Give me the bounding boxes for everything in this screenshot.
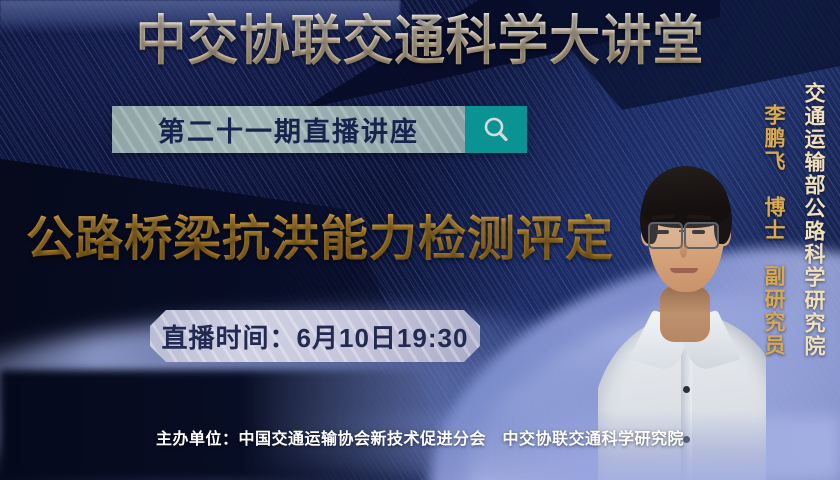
page-title: 中交协联交通科学大讲堂 xyxy=(25,13,815,70)
search-icon[interactable] xyxy=(465,106,527,153)
portrait-mouth xyxy=(670,268,698,273)
portrait-glasses-right-lens xyxy=(684,222,719,249)
episode-bar: 第二十一期直播讲座 xyxy=(112,106,527,153)
speaker-organization: 交通运输部公路科学研究院 xyxy=(798,82,828,358)
episode-bar-text-area: 第二十一期直播讲座 xyxy=(112,106,465,153)
live-time-label: 直播时间：6月10日19:30 xyxy=(162,318,469,355)
live-time-badge: 直播时间：6月10日19:30 xyxy=(150,310,480,362)
episode-label: 第二十一期直播讲座 xyxy=(158,110,419,149)
portrait-glasses-left-lens xyxy=(648,222,683,249)
portrait-glasses-bridge xyxy=(679,230,684,232)
portrait-shirt-button xyxy=(683,386,690,393)
portrait-nose xyxy=(680,242,687,258)
speaker-name-title: 李鹏飞 博士 副研究员 xyxy=(758,104,788,357)
live-lecture-poster: 中交协联交通科学大讲堂 第二十一期直播讲座 公路桥梁抗洪能力检测评定 直播时间：… xyxy=(0,0,840,480)
lecture-headline: 公路桥梁抗洪能力检测评定 xyxy=(26,199,614,269)
organizer-footer: 主办单位：中国交通运输协会新技术促进分会 中交协联交通科学研究院 xyxy=(0,425,840,449)
